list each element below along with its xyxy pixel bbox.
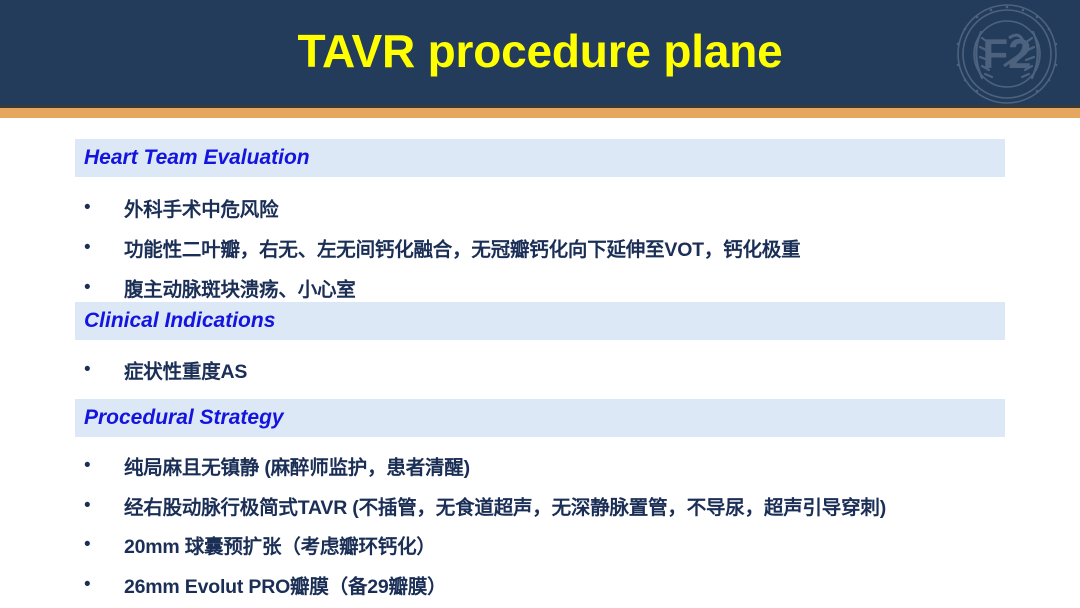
bullet-icon: • bbox=[84, 238, 92, 257]
bullet-icon: • bbox=[84, 456, 92, 475]
list-item: • 20mm 球囊预扩张（考虑瓣环钙化） bbox=[75, 527, 1065, 561]
list-item-text: 经右股动脉行极简式TAVR (不插管，无食道超声，无深静脉置管，不导尿，超声引导… bbox=[124, 491, 886, 520]
bullet-icon: • bbox=[84, 360, 92, 379]
list-item: • 26mm Evolut PRO瓣膜（备29瓣膜） bbox=[75, 567, 1065, 601]
page-title: TAVR procedure plane bbox=[0, 0, 1080, 105]
list-item-text: 功能性二叶瓣，右无、左无间钙化融合，无冠瓣钙化向下延伸至VOT，钙化极重 bbox=[124, 233, 800, 262]
bullet-icon: • bbox=[84, 278, 92, 297]
list-item-text: 20mm 球囊预扩张（考虑瓣环钙化） bbox=[124, 530, 436, 559]
list-item-text: 症状性重度AS bbox=[124, 355, 247, 384]
list-item: • 纯局麻且无镇静 (麻醉师监护，患者清醒) bbox=[75, 448, 1065, 482]
list-item: • 经右股动脉行极简式TAVR (不插管，无食道超声，无深静脉置管，不导尿，超声… bbox=[75, 488, 1065, 522]
bullet-icon: • bbox=[84, 198, 92, 217]
section-label: Procedural Strategy bbox=[75, 406, 284, 430]
slide-content: Heart Team Evaluation • 外科手术中危风险 • 功能性二叶… bbox=[0, 118, 1080, 608]
section-label: Heart Team Evaluation bbox=[75, 146, 310, 170]
list-item-text: 26mm Evolut PRO瓣膜（备29瓣膜） bbox=[124, 570, 446, 599]
section-header-procedural-strategy: Procedural Strategy bbox=[75, 399, 1005, 437]
bullet-icon: • bbox=[84, 496, 92, 515]
list-item-text: 腹主动脉斑块溃疡、小心室 bbox=[124, 273, 356, 302]
list-item: • 外科手术中危风险 bbox=[75, 190, 1065, 224]
section-header-heart-team-evaluation: Heart Team Evaluation bbox=[75, 139, 1005, 177]
slide-header: TAVR procedure plane bbox=[0, 0, 1080, 105]
bullet-icon: • bbox=[84, 575, 92, 594]
header-accent-bar bbox=[0, 108, 1080, 118]
section-header-clinical-indications: Clinical Indications bbox=[75, 302, 1005, 340]
list-item-text: 纯局麻且无镇静 (麻醉师监护，患者清醒) bbox=[124, 451, 470, 480]
list-item: • 功能性二叶瓣，右无、左无间钙化融合，无冠瓣钙化向下延伸至VOT，钙化极重 bbox=[75, 230, 1065, 264]
bullet-icon: • bbox=[84, 535, 92, 554]
list-item-text: 外科手术中危风险 bbox=[124, 193, 278, 222]
list-item: • 症状性重度AS bbox=[75, 352, 1065, 386]
list-item: • 腹主动脉斑块溃疡、小心室 bbox=[75, 270, 1065, 304]
section-label: Clinical Indications bbox=[75, 309, 275, 333]
